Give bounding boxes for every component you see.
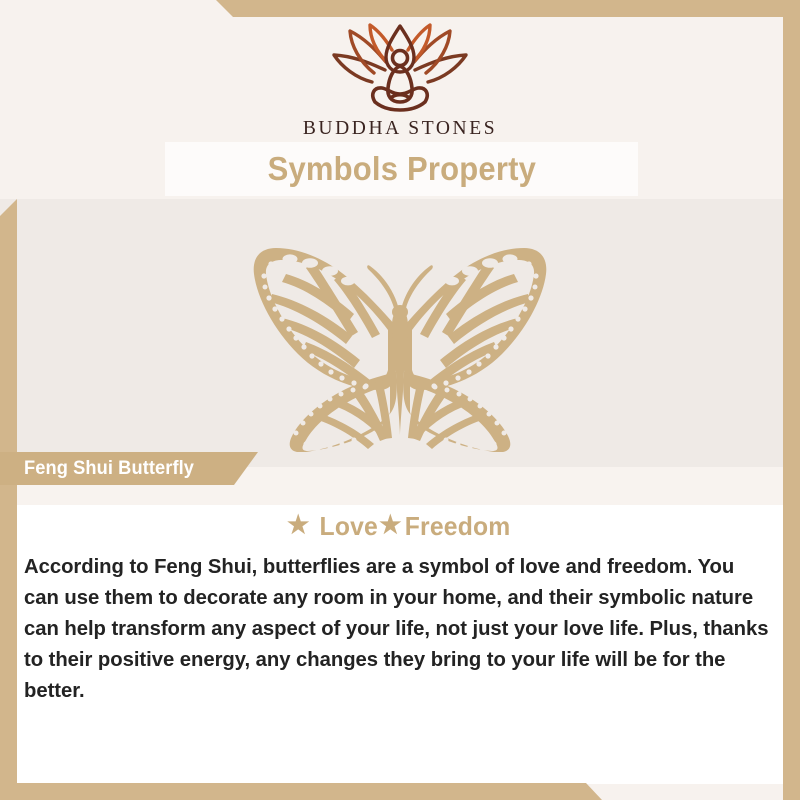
page-title: Symbols Property bbox=[267, 150, 535, 188]
status-badge: Feng Shui Butterfly bbox=[0, 452, 258, 485]
title-plate: Symbols Property bbox=[165, 142, 638, 196]
body-paragraph: According to Feng Shui, butterflies are … bbox=[24, 551, 773, 706]
brand-name: BUDDHA STONES bbox=[303, 118, 497, 140]
star-icon: ★ bbox=[287, 513, 310, 538]
frame-accent-bottom bbox=[0, 783, 602, 800]
lotus-meditation-figure-icon bbox=[312, 18, 488, 114]
star-icon: ★ bbox=[379, 513, 402, 538]
frame-accent-top bbox=[216, 0, 800, 17]
ribbon-label: Feng Shui Butterfly bbox=[24, 458, 194, 480]
keywords-line: ★ Love ★ Freedom bbox=[0, 511, 800, 542]
product-info-card: BUDDHA STONES Symbols Property bbox=[0, 0, 800, 800]
brand-logo: BUDDHA STONES bbox=[0, 18, 800, 140]
keyword-love: Love bbox=[319, 511, 377, 542]
keyword-freedom: Freedom bbox=[405, 511, 511, 542]
illustration-area bbox=[0, 230, 800, 452]
butterfly-icon bbox=[230, 230, 570, 452]
